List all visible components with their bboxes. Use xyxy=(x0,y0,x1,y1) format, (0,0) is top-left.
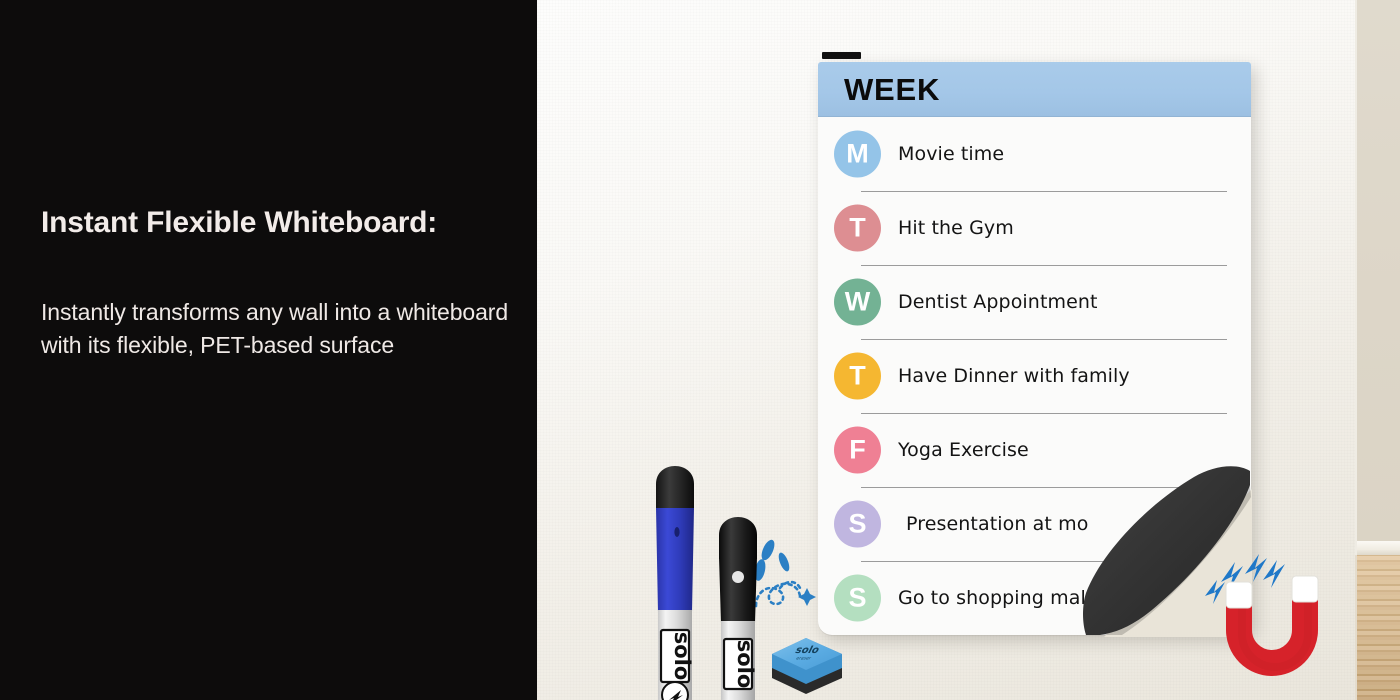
promo-banner: Instant Flexible Whiteboard: Instantly t… xyxy=(0,0,1400,700)
table-row[interactable]: F Yoga Exercise xyxy=(818,413,1251,487)
task-text-wednesday: Dentist Appointment xyxy=(898,291,1098,313)
svg-text:eraser: eraser xyxy=(795,656,812,662)
day-badge-wednesday: W xyxy=(834,279,881,326)
page-subtitle: Instantly transforms any wall into a whi… xyxy=(41,296,521,362)
table-row[interactable]: T Hit the Gym xyxy=(818,191,1251,265)
left-text-panel: Instant Flexible Whiteboard: Instantly t… xyxy=(0,0,537,700)
day-badge-tuesday: T xyxy=(834,205,881,252)
task-text-monday: Movie time xyxy=(898,143,1004,165)
svg-text:solo: solo xyxy=(733,640,757,689)
page-title: Instant Flexible Whiteboard: xyxy=(41,203,461,243)
table-row[interactable]: T Have Dinner with family xyxy=(818,339,1251,413)
whiteboard-marker-blue[interactable]: solo xyxy=(647,452,703,700)
day-badge-monday: M xyxy=(834,131,881,178)
day-badge-saturday: S xyxy=(834,501,881,548)
whiteboard-marker-black[interactable]: solo xyxy=(710,505,766,700)
task-text-tuesday: Hit the Gym xyxy=(898,217,1014,239)
magnet-icon xyxy=(1187,530,1357,680)
day-badge-thursday: T xyxy=(834,353,881,400)
task-text-saturday: Presentation at mo xyxy=(906,513,1088,535)
board-title: WEEK xyxy=(844,72,940,108)
task-text-thursday: Have Dinner with family xyxy=(898,365,1130,387)
table-row[interactable]: W Dentist Appointment xyxy=(818,265,1251,339)
day-badge-sunday: S xyxy=(834,575,881,622)
task-text-friday: Yoga Exercise xyxy=(898,439,1029,461)
wood-floor xyxy=(1355,555,1400,700)
svg-text:solo: solo xyxy=(670,632,694,681)
side-wall xyxy=(1355,0,1400,548)
table-row[interactable]: M Movie time xyxy=(818,117,1251,191)
product-photo-scene: WEEK M Movie time T Hit the Gym W Dentis… xyxy=(537,0,1400,700)
day-badge-friday: F xyxy=(834,427,881,474)
baseboard xyxy=(1355,541,1400,555)
whiteboard-eraser[interactable]: solo eraser xyxy=(766,626,846,694)
task-text-sunday: Go to shopping mal xyxy=(898,587,1086,609)
board-top-tab xyxy=(822,52,861,59)
